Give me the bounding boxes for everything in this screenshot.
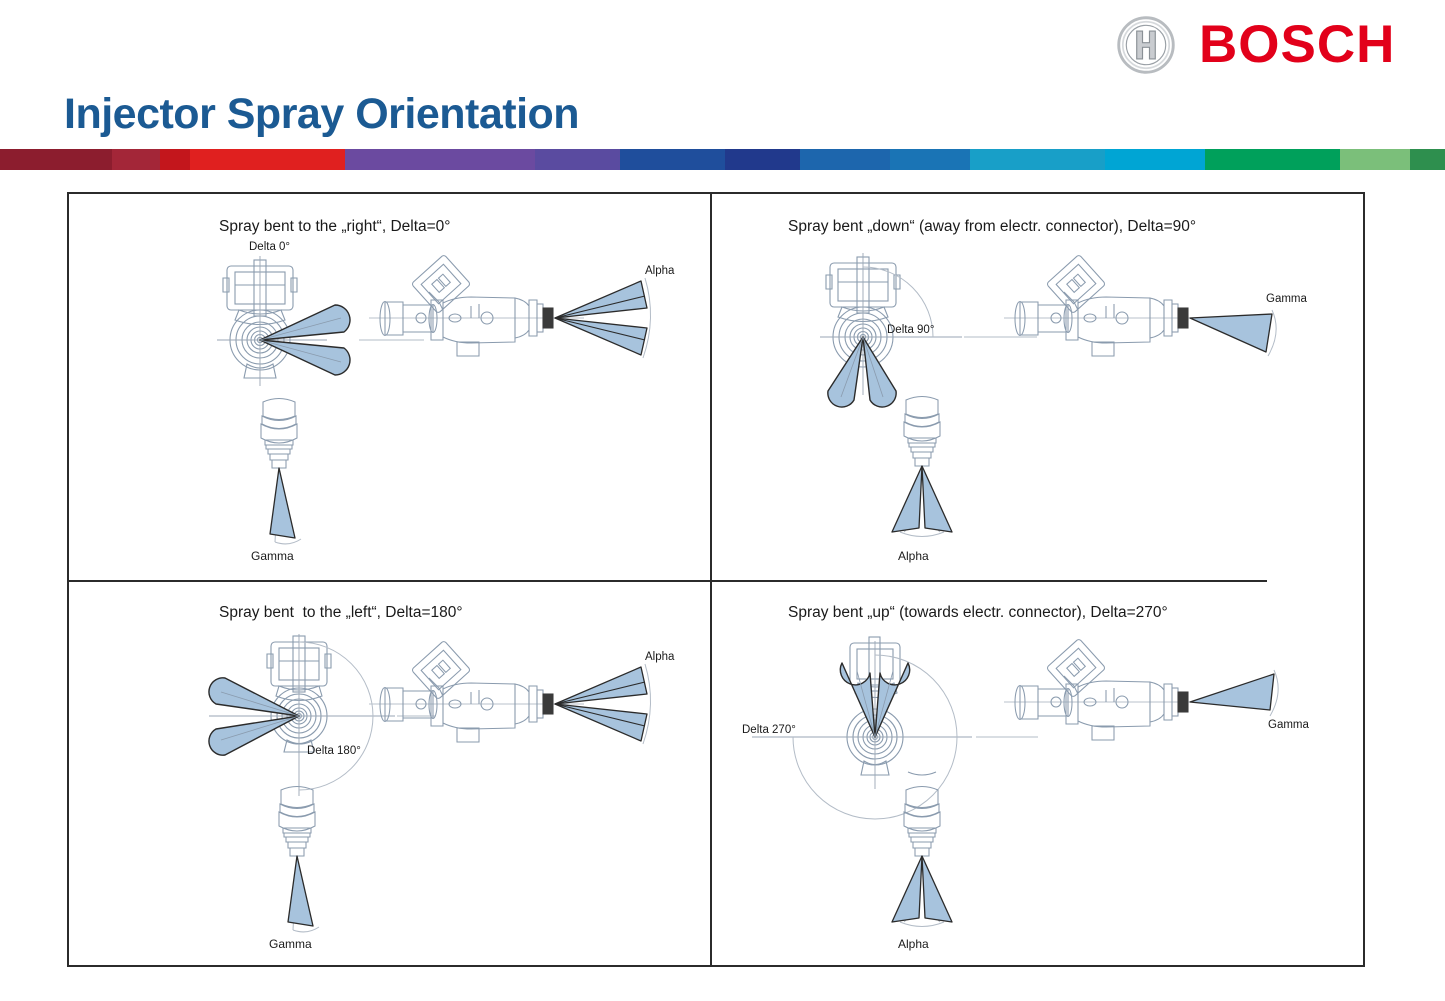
panel-up-gamma-label: Gamma — [1268, 719, 1310, 731]
stripe-segment-9 — [890, 149, 970, 170]
panel-down-alpha-label: Alpha — [898, 549, 929, 563]
bosch-supergraphic-stripe — [0, 149, 1445, 170]
panel-up-title: Spray bent „up“ (towards electr. connect… — [788, 604, 1168, 622]
stripe-segment-11 — [1105, 149, 1205, 170]
stripe-segment-13 — [1340, 149, 1410, 170]
panel-right-gamma-label: Gamma — [251, 549, 294, 563]
diagram-frame: Spray bent to the „right“, Delta=0° — [67, 192, 1365, 967]
panel-right-bottom-view: Gamma — [229, 394, 349, 564]
panel-right-alpha-label: Alpha — [645, 265, 675, 277]
panel-left-alpha-label: Alpha — [645, 651, 675, 663]
panel-up-side-view: Gamma — [1004, 640, 1304, 760]
panel-left-delta-label: Delta 180° — [307, 745, 361, 757]
panel-left: Spray bent to the „left“, Delta=180° — [69, 582, 710, 967]
stripe-segment-0 — [0, 149, 112, 170]
stripe-segment-14 — [1410, 149, 1445, 170]
panel-up-bottom-view: Alpha — [872, 772, 1002, 952]
panel-up-alpha-label: Alpha — [898, 937, 929, 951]
panel-right-title: Spray bent to the „right“, Delta=0° — [219, 218, 451, 236]
bosch-wordmark: BOSCH — [1199, 18, 1395, 72]
panel-down-bottom-view: Alpha — [872, 392, 1002, 567]
panel-right-side-view: Alpha — [369, 256, 689, 376]
panel-down-side-view: Gamma — [1004, 256, 1304, 376]
panel-down-title: Spray bent „down“ (away from electr. con… — [788, 218, 1196, 236]
panel-up-delta-label: Delta 270° — [742, 724, 796, 736]
stripe-segment-5 — [535, 149, 620, 170]
panel-down: Spray bent „down“ (away from electr. con… — [712, 194, 1267, 580]
stripe-segment-1 — [112, 149, 160, 170]
panel-up: Spray bent „up“ (towards electr. connect… — [712, 582, 1267, 967]
bosch-logo: BOSCH — [1117, 14, 1427, 76]
bosch-emblem-icon — [1117, 16, 1175, 74]
stripe-segment-10 — [970, 149, 1105, 170]
panel-left-side-view: Alpha — [369, 642, 689, 762]
stripe-segment-6 — [620, 149, 725, 170]
panel-left-title: Spray bent to the „left“, Delta=180° — [219, 604, 463, 622]
panel-left-gamma-label: Gamma — [269, 937, 312, 951]
panel-up-end-view: Delta 270° — [732, 627, 1042, 792]
stripe-segment-4 — [345, 149, 535, 170]
stripe-segment-7 — [725, 149, 800, 170]
panel-down-delta-label: Delta 90° — [887, 324, 934, 336]
panel-down-gamma-label: Gamma — [1266, 293, 1308, 305]
stripe-segment-8 — [800, 149, 890, 170]
page-title: Injector Spray Orientation — [64, 90, 579, 139]
stripe-segment-12 — [1205, 149, 1340, 170]
panel-right-delta-label: Delta 0° — [249, 241, 290, 253]
stripe-segment-3 — [190, 149, 345, 170]
panel-right: Spray bent to the „right“, Delta=0° — [69, 194, 710, 580]
stripe-segment-2 — [160, 149, 190, 170]
panel-left-bottom-view: Gamma — [247, 782, 367, 952]
